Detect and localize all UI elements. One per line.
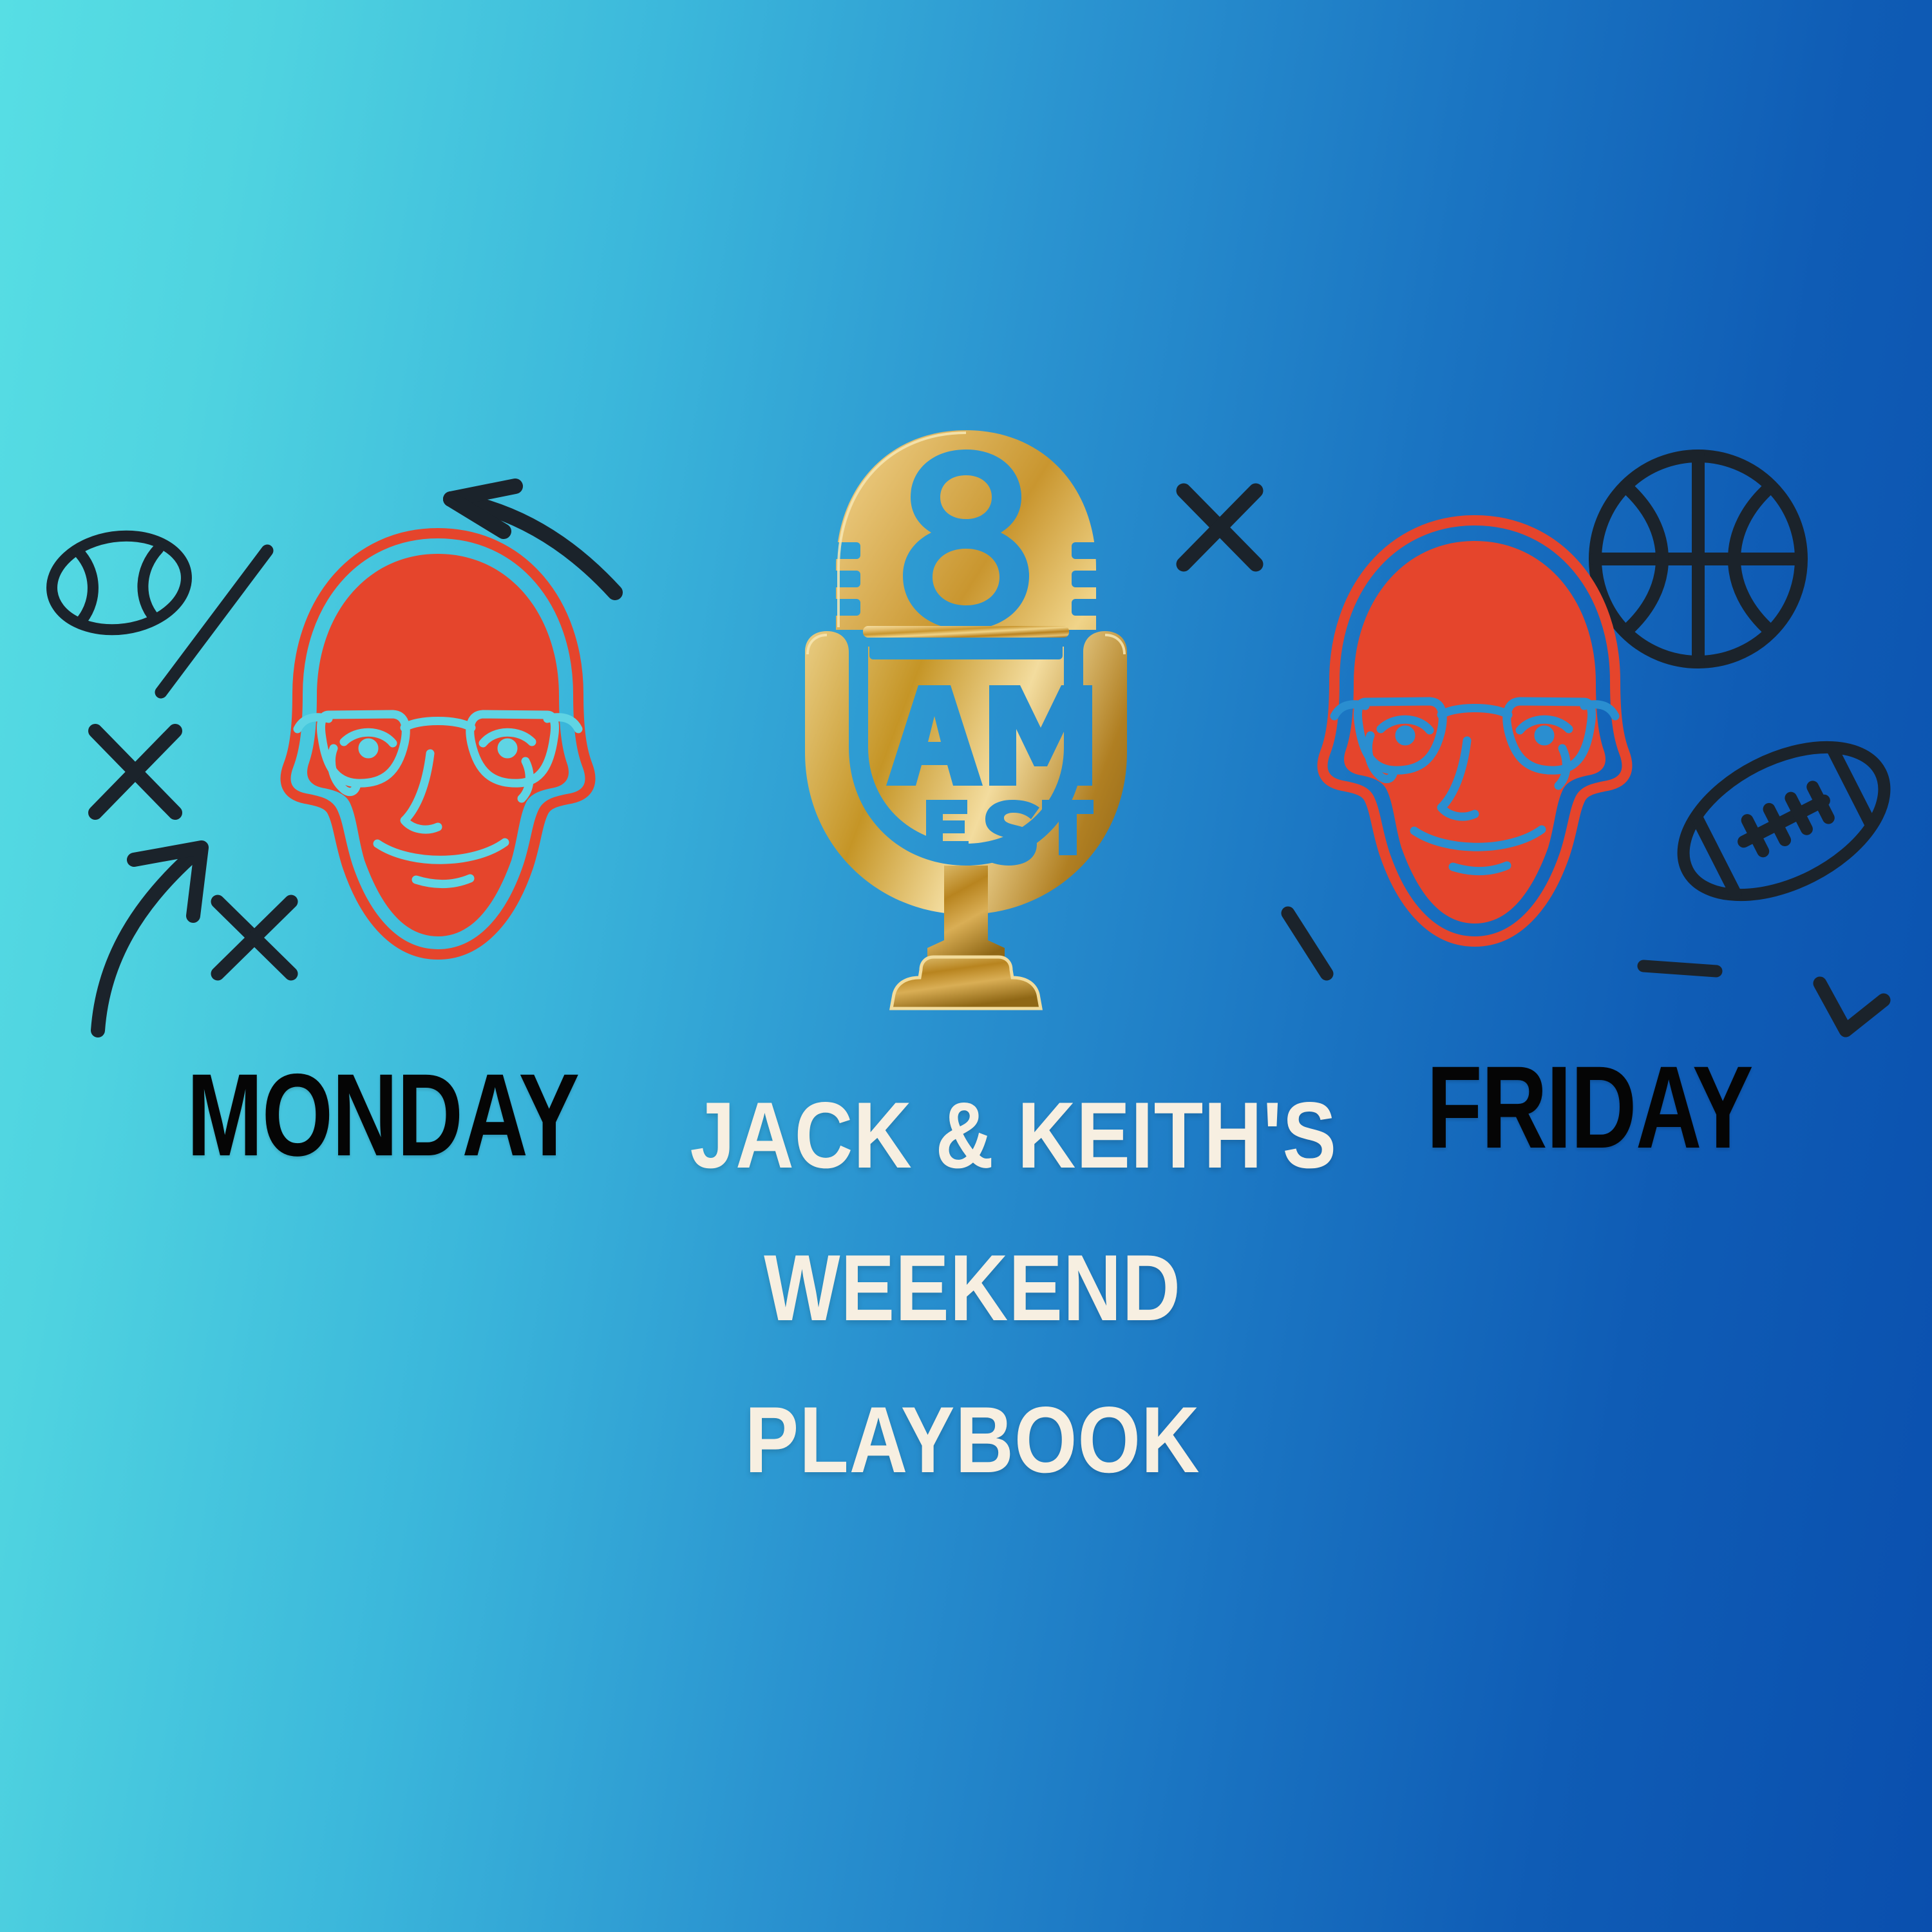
- show-title-line-2: WEEKEND: [690, 1212, 1255, 1365]
- gold-microphone-logo: [760, 425, 1172, 1069]
- x-mark-icon: [95, 731, 175, 813]
- x-mark-icon: [1184, 491, 1256, 564]
- diagonal-line-icon: [161, 551, 267, 692]
- check-mark-icon: [1820, 983, 1884, 1030]
- day-label-friday: FRIDAY: [1426, 1048, 1752, 1166]
- curved-arrow-up-icon: [98, 848, 202, 1030]
- show-title-line-1: JACK & KEITH'S: [690, 1059, 1255, 1212]
- dash-stroke-icon: [1643, 966, 1716, 971]
- avatar-jack: [258, 522, 618, 972]
- mic-crossbar: [863, 626, 1069, 638]
- avatar-keith: [1294, 509, 1655, 960]
- football-icon: [1660, 717, 1909, 925]
- day-label-monday: MONDAY: [187, 1056, 579, 1173]
- show-title-block: JACK & KEITH'S WEEKEND PLAYBOOK: [644, 1059, 1301, 1517]
- podcast-cover-art: MONDAY FRIDAY JACK & KEITH'S WEEKEND PLA…: [0, 0, 1932, 1932]
- show-title-line-3: PLAYBOOK: [690, 1364, 1255, 1517]
- baseball-icon: [46, 527, 193, 638]
